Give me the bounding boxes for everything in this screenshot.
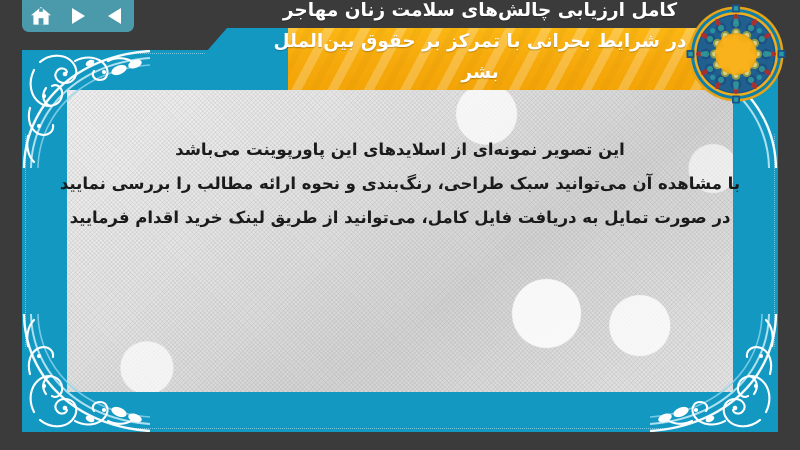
forward-button[interactable]	[64, 2, 92, 30]
home-icon	[30, 6, 52, 26]
slide-frame	[22, 50, 778, 432]
triangle-left-icon	[107, 7, 123, 25]
back-button[interactable]	[101, 2, 129, 30]
navigation-bar	[22, 0, 134, 32]
slide-title-line-1: کامل ارزیابی چالش‌های سلامت زنان مهاجر	[270, 0, 690, 26]
home-button[interactable]	[27, 2, 55, 30]
triangle-right-icon	[70, 7, 86, 25]
slide-viewer: کامل ارزیابی چالش‌های سلامت زنان مهاجر د…	[0, 0, 800, 450]
slide-body-line-2: با مشاهده آن می‌توانید سبک طراحی، رنگ‌بن…	[28, 167, 772, 201]
slide-body-line-1: این تصویر نمونه‌ای از اسلایدهای این پاور…	[28, 133, 772, 167]
slide-body-text: این تصویر نمونه‌ای از اسلایدهای این پاور…	[0, 133, 800, 235]
slide-body-line-3: در صورت تمایل به دریافت فایل کامل، می‌تو…	[28, 201, 772, 235]
islamic-mandala-medallion-icon	[686, 4, 786, 104]
